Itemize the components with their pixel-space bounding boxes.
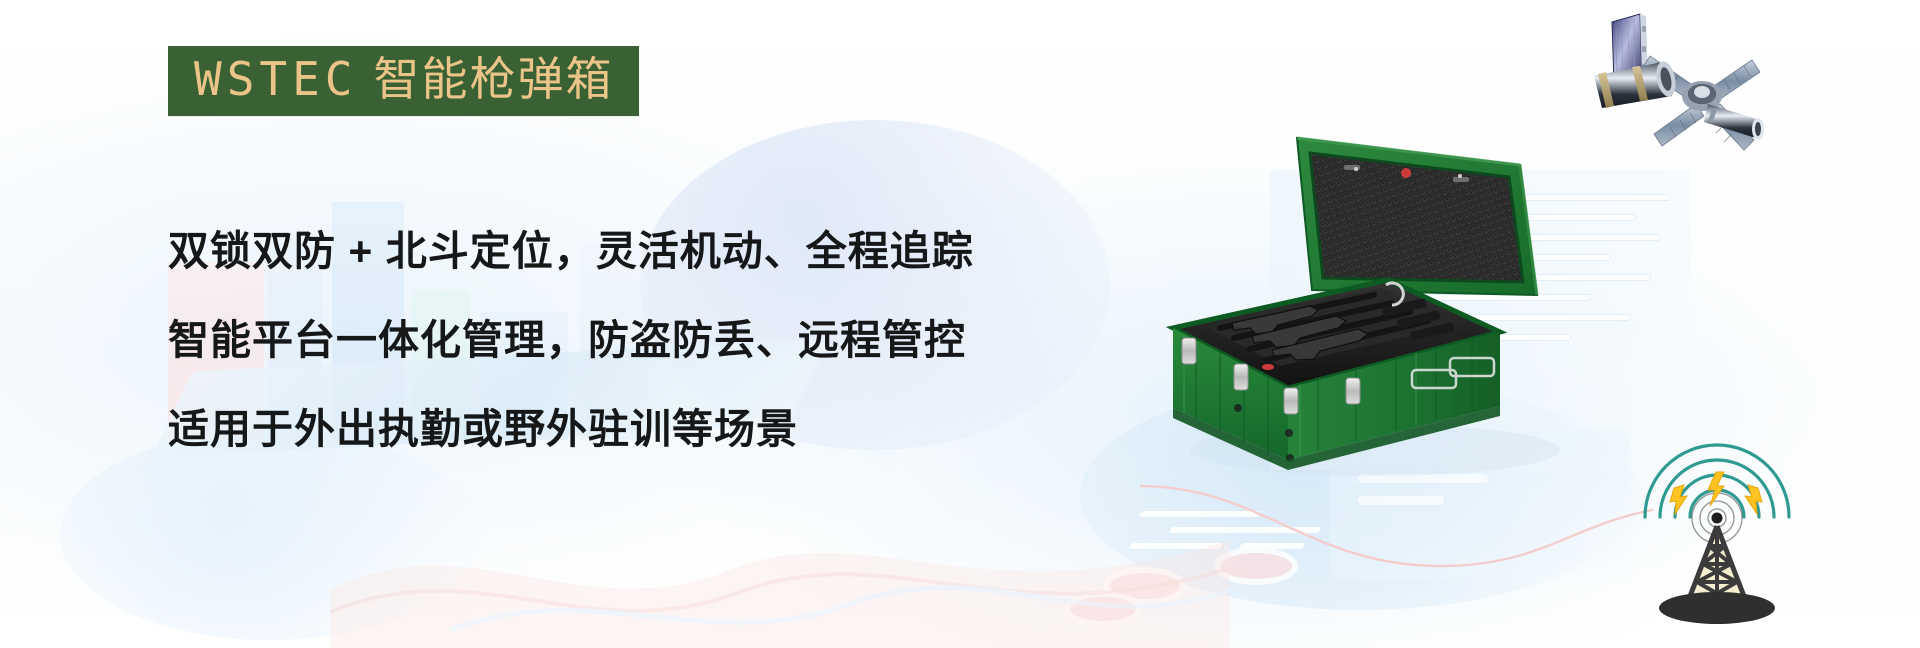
- feature-line-2: 智能平台一体化管理，防盗防丢、远程管控: [168, 319, 974, 362]
- title-badge: WSTEC 智能枪弹箱: [168, 46, 639, 116]
- feature-line-1: 双锁双防 + 北斗定位，灵活机动、全程追踪: [168, 230, 974, 273]
- product-case-image: [1160, 120, 1590, 490]
- tower-structure: [1659, 526, 1775, 624]
- radio-tower-icon: [1612, 422, 1822, 637]
- product-banner: WSTEC 智能枪弹箱 双锁双防 + 北斗定位，灵活机动、全程追踪 智能平台一体…: [0, 0, 1920, 648]
- brand-name: WSTEC: [194, 56, 357, 102]
- feature-line-3: 适用于外出执勤或野外驻训等场景: [168, 408, 974, 451]
- background-wave: [330, 480, 1230, 648]
- satellite-icon: [1592, 4, 1822, 164]
- product-name: 智能枪弹箱: [373, 56, 613, 102]
- satellite-body: [1594, 60, 1679, 108]
- feature-list: 双锁双防 + 北斗定位，灵活机动、全程追踪 智能平台一体化管理，防盗防丢、远程管…: [168, 230, 974, 451]
- case-lid: [1297, 138, 1537, 295]
